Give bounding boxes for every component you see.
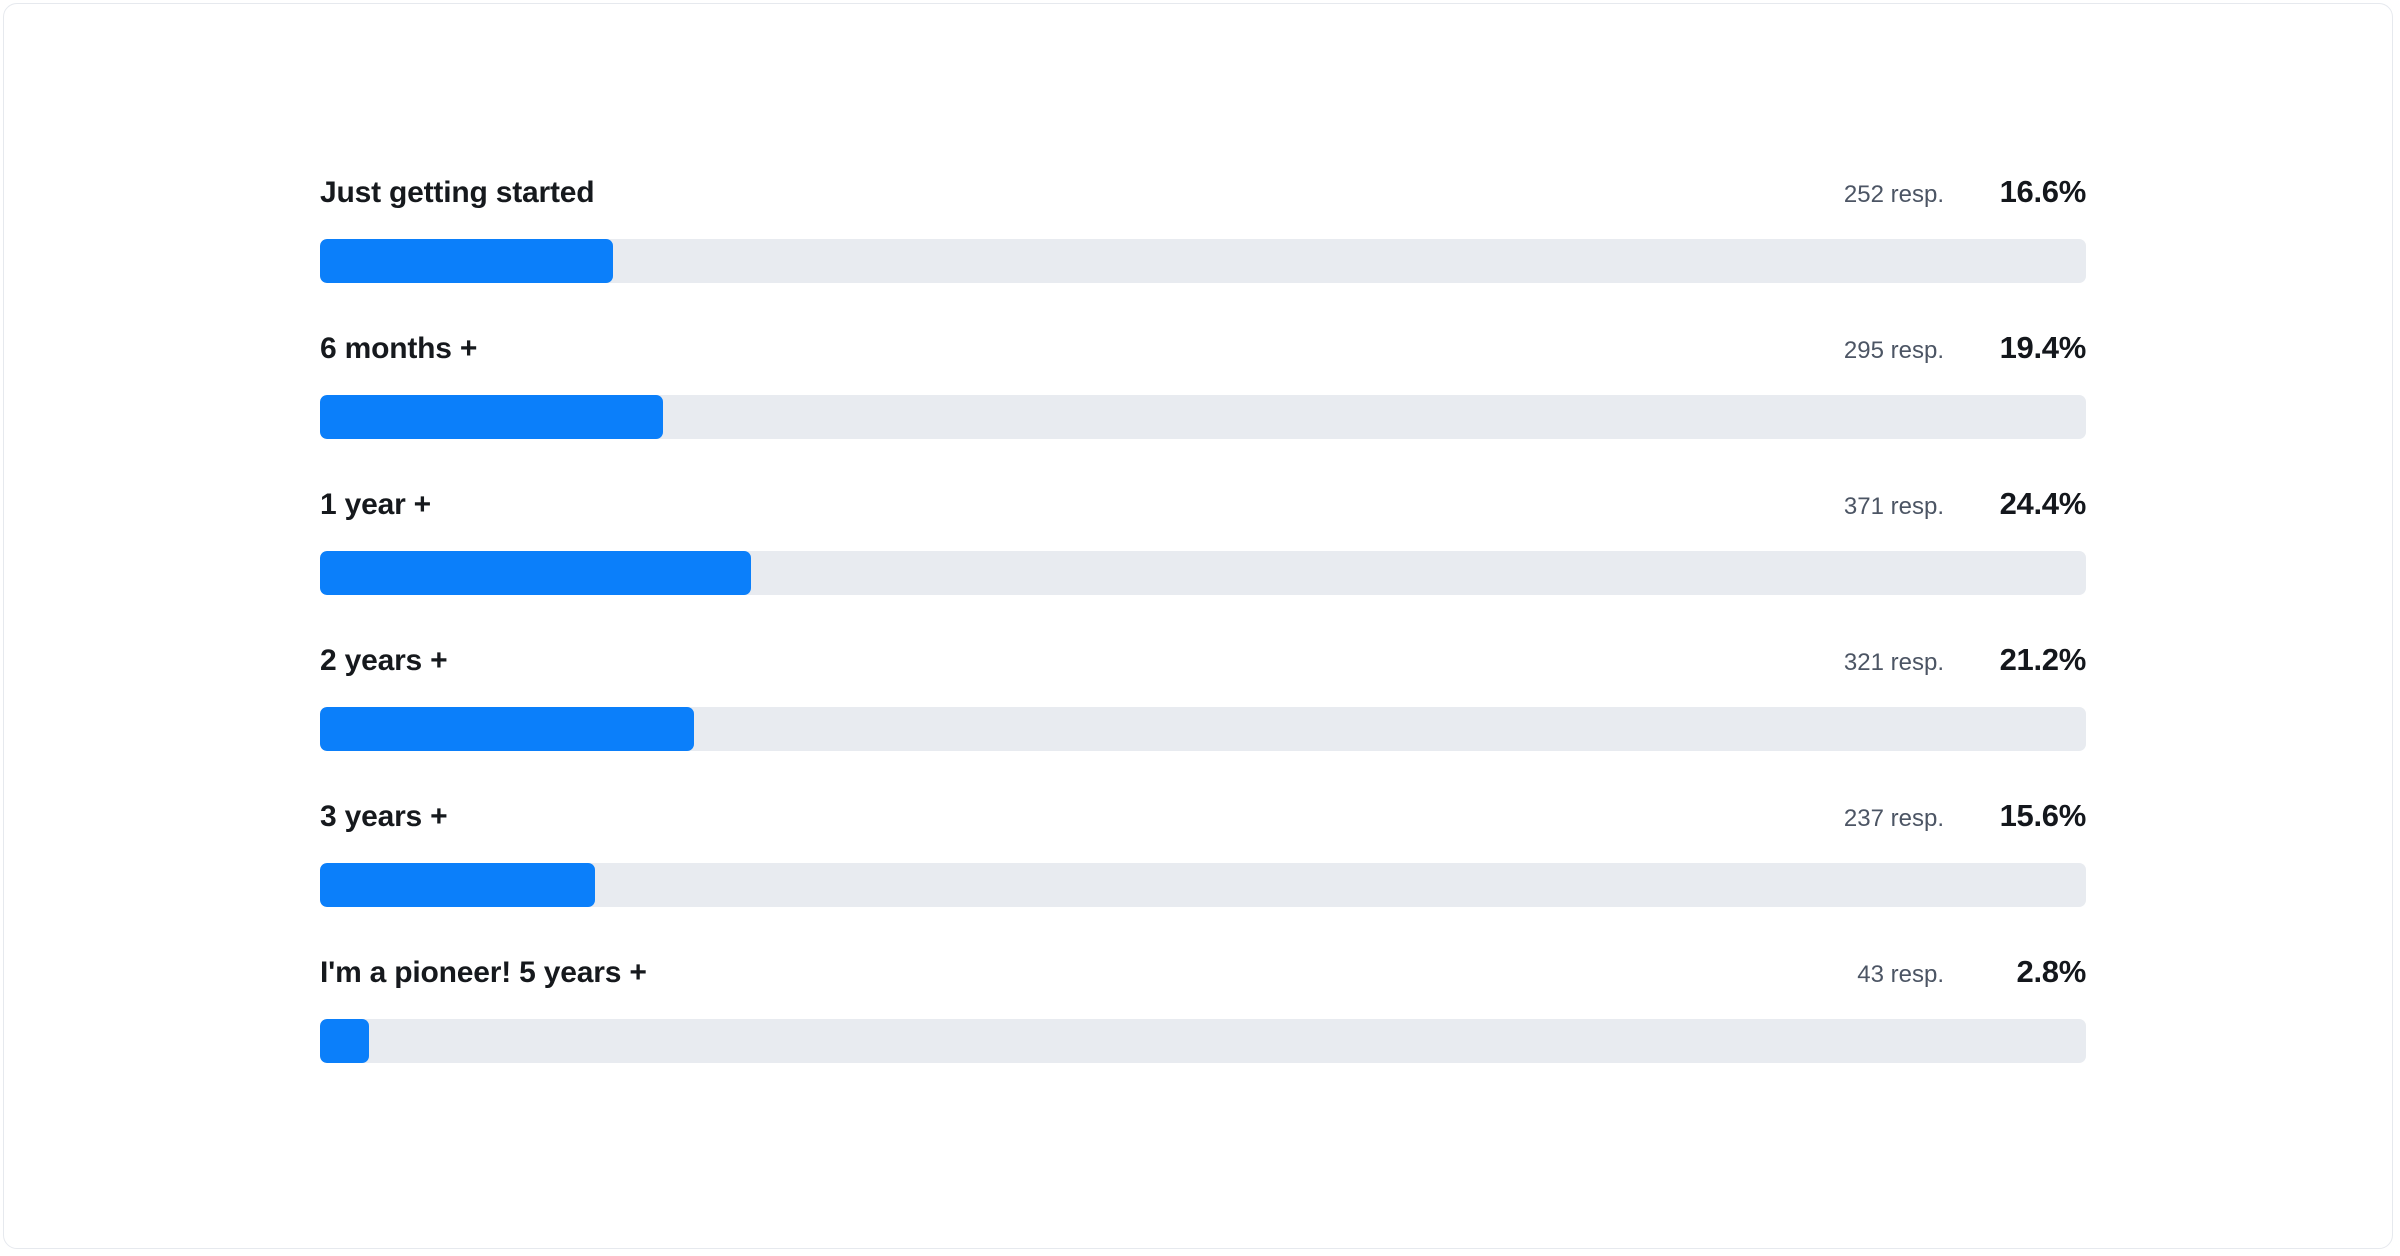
bar-row-label: 1 year + [320,488,431,522]
bar-row-response-count: 252 resp. [1844,181,1944,209]
bar-row-percentage: 15.6% [1968,798,2086,834]
bar-row-label: 3 years + [320,800,448,834]
bar-row-percentage: 2.8% [1968,954,2086,990]
bar-row-stats: 371 resp. 24.4% [1844,486,2086,522]
bar-row[interactable]: 2 years + 321 resp. 21.2% [320,642,2086,798]
bar-row-response-count: 237 resp. [1844,805,1944,833]
survey-results-card: Just getting started 252 resp. 16.6% 6 m… [3,3,2393,1249]
bar-row-stats: 321 resp. 21.2% [1844,642,2086,678]
bar-row-response-count: 43 resp. [1857,961,1944,989]
bar-row[interactable]: 3 years + 237 resp. 15.6% [320,798,2086,954]
bar-row-stats: 252 resp. 16.6% [1844,174,2086,210]
bar-fill [320,239,613,283]
bar-row-stats: 43 resp. 2.8% [1857,954,2086,990]
bar-fill [320,863,595,907]
bar-track [320,395,2086,439]
bar-row-percentage: 19.4% [1968,330,2086,366]
bar-row-response-count: 371 resp. [1844,493,1944,521]
bar-row[interactable]: Just getting started 252 resp. 16.6% [320,174,2086,330]
bar-row-percentage: 24.4% [1968,486,2086,522]
bar-track [320,239,2086,283]
bar-row-header: I'm a pioneer! 5 years + 43 resp. 2.8% [320,954,2086,1002]
bar-fill [320,707,694,751]
bar-track [320,551,2086,595]
bar-row-response-count: 295 resp. [1844,337,1944,365]
bar-row-label: I'm a pioneer! 5 years + [320,956,647,990]
bar-fill [320,551,751,595]
bar-row-header: 1 year + 371 resp. 24.4% [320,486,2086,534]
bar-row[interactable]: 6 months + 295 resp. 19.4% [320,330,2086,486]
bar-row[interactable]: 1 year + 371 resp. 24.4% [320,486,2086,642]
bar-row[interactable]: I'm a pioneer! 5 years + 43 resp. 2.8% [320,954,2086,1110]
bar-track [320,1019,2086,1063]
bar-row-stats: 295 resp. 19.4% [1844,330,2086,366]
bar-track [320,863,2086,907]
bar-row-percentage: 21.2% [1968,642,2086,678]
bar-row-label: 2 years + [320,644,448,678]
bar-row-header: Just getting started 252 resp. 16.6% [320,174,2086,222]
bar-track [320,707,2086,751]
bar-row-header: 3 years + 237 resp. 15.6% [320,798,2086,846]
bar-row-response-count: 321 resp. [1844,649,1944,677]
bar-row-stats: 237 resp. 15.6% [1844,798,2086,834]
bar-row-header: 2 years + 321 resp. 21.2% [320,642,2086,690]
bar-fill [320,1019,369,1063]
bar-row-label: Just getting started [320,176,594,210]
bar-row-percentage: 16.6% [1968,174,2086,210]
bar-row-label: 6 months + [320,332,477,366]
bar-row-header: 6 months + 295 resp. 19.4% [320,330,2086,378]
horizontal-bar-chart: Just getting started 252 resp. 16.6% 6 m… [320,174,2086,1110]
bar-fill [320,395,663,439]
